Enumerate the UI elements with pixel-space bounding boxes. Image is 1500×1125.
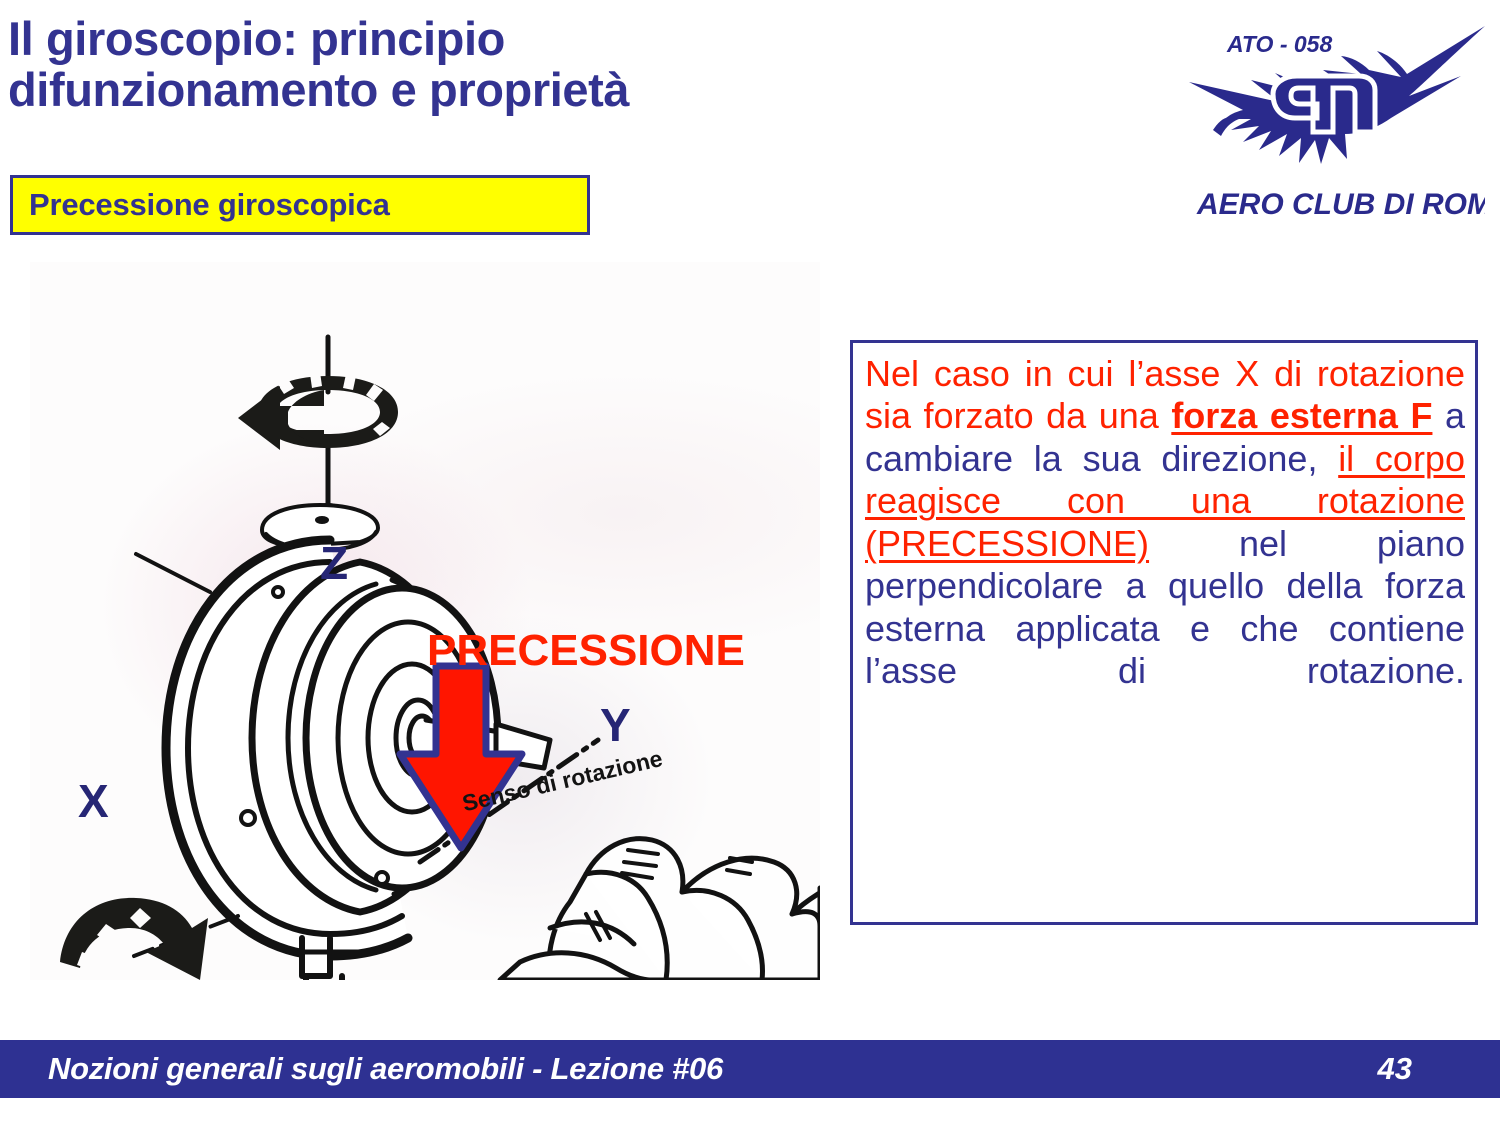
slide-footer: Nozioni generali sugli aeromobili - Lezi… [0,1040,1500,1098]
force-arrow-icon [396,662,526,862]
explanation-paragraph: Nel caso in cui l’asse X di rotazione si… [865,353,1465,735]
subtitle-label: Precessione giroscopica [13,187,390,223]
logo-ato-code: ATO - 058 [1226,31,1332,57]
slide-root: Il giroscopio: principio difunzionamento… [0,0,1500,1125]
explanation-textbox: Nel caso in cui l’asse X di rotazione si… [850,340,1478,925]
axis-label-z: Z [320,540,348,586]
precession-label: PRECESSIONE [427,629,745,673]
footer-page-number: 43 [1378,1051,1412,1087]
axis-label-y-right: Y [600,702,631,748]
aero-club-logo: ATO - 058 AERO CLUB DI ROMA [1155,18,1485,223]
gyroscope-drawing [30,262,820,980]
page-title-line-2: difunzionamento e proprietà [8,65,888,116]
page-title: Il giroscopio: principio difunzionamento… [8,14,888,116]
axis-label-x: X [78,778,109,824]
gyroscope-figure: Z X Y Y PRECESSIONE F Senso di rotazione… [30,262,820,980]
subtitle-banner: Precessione giroscopica [10,175,590,235]
logo-club-name: AERO CLUB DI ROMA [1196,188,1485,221]
explanation-segment-1: forza esterna F [1171,395,1432,436]
page-title-line-1: Il giroscopio: principio [8,12,505,65]
footer-text: Nozioni generali sugli aeromobili - Lezi… [0,1051,723,1087]
